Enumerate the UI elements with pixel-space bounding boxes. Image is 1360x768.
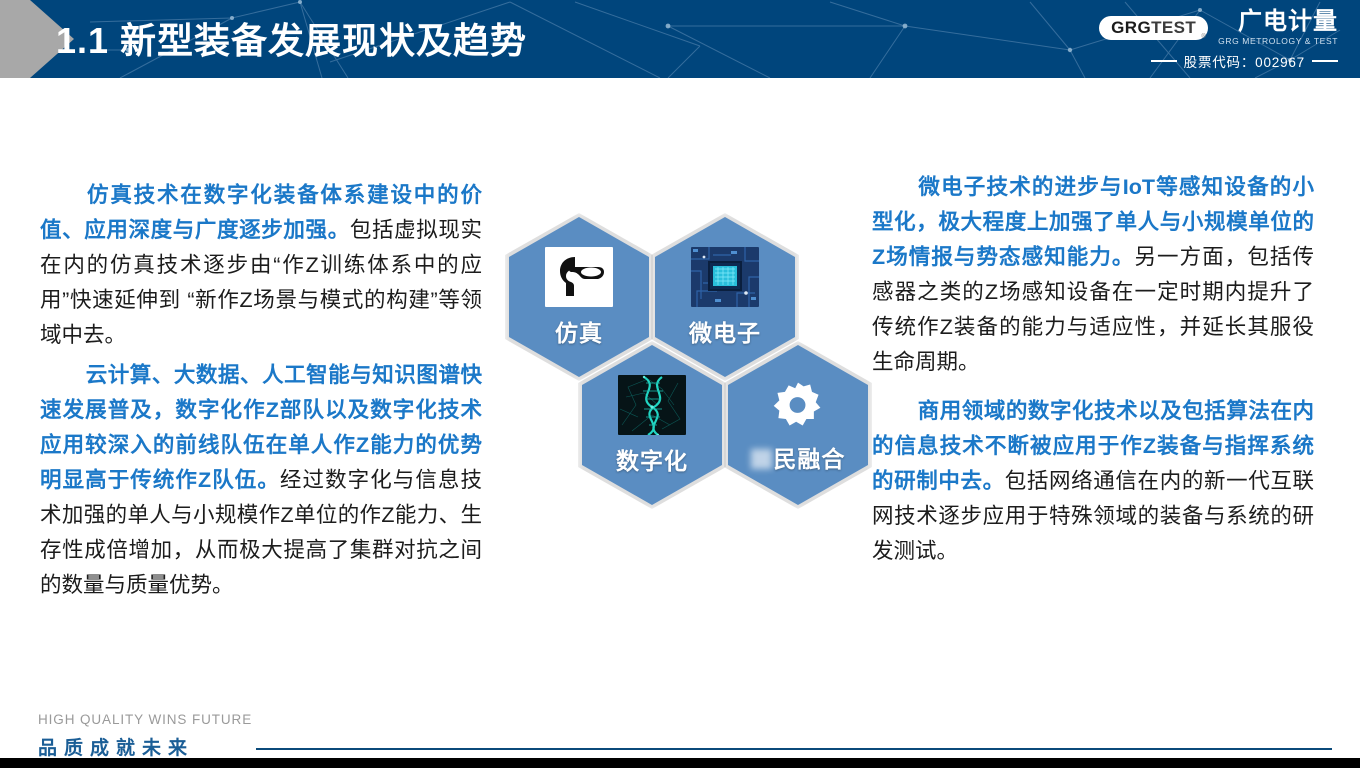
brand-name-en: GRG METROLOGY & TEST — [1218, 36, 1338, 46]
footer-tagline-cn: 品质成就未来 — [38, 733, 194, 760]
registered-mark-icon: ® — [1201, 34, 1206, 41]
page-title: 1.1 新型装备发展现状及趋势 — [56, 12, 527, 64]
dna-network-icon — [618, 375, 686, 435]
page-header: 1.1 新型装备发展现状及趋势 GRGTEST ® 广电计量 GRG METRO… — [0, 0, 1360, 78]
stock-rule-left — [1151, 60, 1177, 62]
footer-divider — [256, 748, 1332, 750]
paragraph-right-2: 商用领域的数字化技术以及包括算法在内的信息技术不断被应用于作Z装备与指挥系统的研… — [872, 394, 1314, 569]
hexagon-label: 微电子 — [689, 314, 761, 348]
circuit-chip-icon — [691, 247, 759, 307]
brand-name-cn: 广电计量 — [1218, 10, 1338, 34]
redacted-char-block — [751, 449, 773, 469]
brand-logo: GRGTEST ® 广电计量 GRG METROLOGY & TEST 股票代码… — [1099, 10, 1338, 71]
hexagon-label: 民融合 — [751, 440, 846, 474]
paragraph-left-2: 云计算、大数据、人工智能与知识图谱快速发展普及，数字化作Z部队以及数字化技术应用… — [40, 358, 482, 603]
vr-headset-icon — [545, 247, 613, 307]
paragraph-left-1: 仿真技术在数字化装备体系建设中的价值、应用深度与广度逐步加强。包括虚拟现实在内的… — [40, 178, 482, 353]
bottom-bar — [0, 758, 1360, 768]
gear-icon — [764, 377, 832, 433]
grgtest-badge-bold: GRG — [1111, 18, 1151, 37]
paragraph-right-1: 微电子技术的进步与IoT等感知设备的小型化，极大程度上加强了单人与小规模单位的Z… — [872, 170, 1314, 380]
grgtest-badge: GRGTEST ® — [1099, 16, 1208, 41]
hexagon-label: 数字化 — [616, 442, 688, 476]
hexagon-label: 仿真 — [555, 314, 603, 348]
hexagon-label-text: 民融合 — [773, 446, 845, 472]
hexagon-cluster: 仿真 微电子 — [505, 195, 865, 495]
stock-code-label: 股票代码：002967 — [1184, 51, 1305, 71]
footer-tagline-en: HIGH QUALITY WINS FUTURE — [38, 712, 252, 727]
stock-rule-right — [1312, 60, 1338, 62]
grgtest-badge-light: TEST — [1151, 18, 1196, 37]
